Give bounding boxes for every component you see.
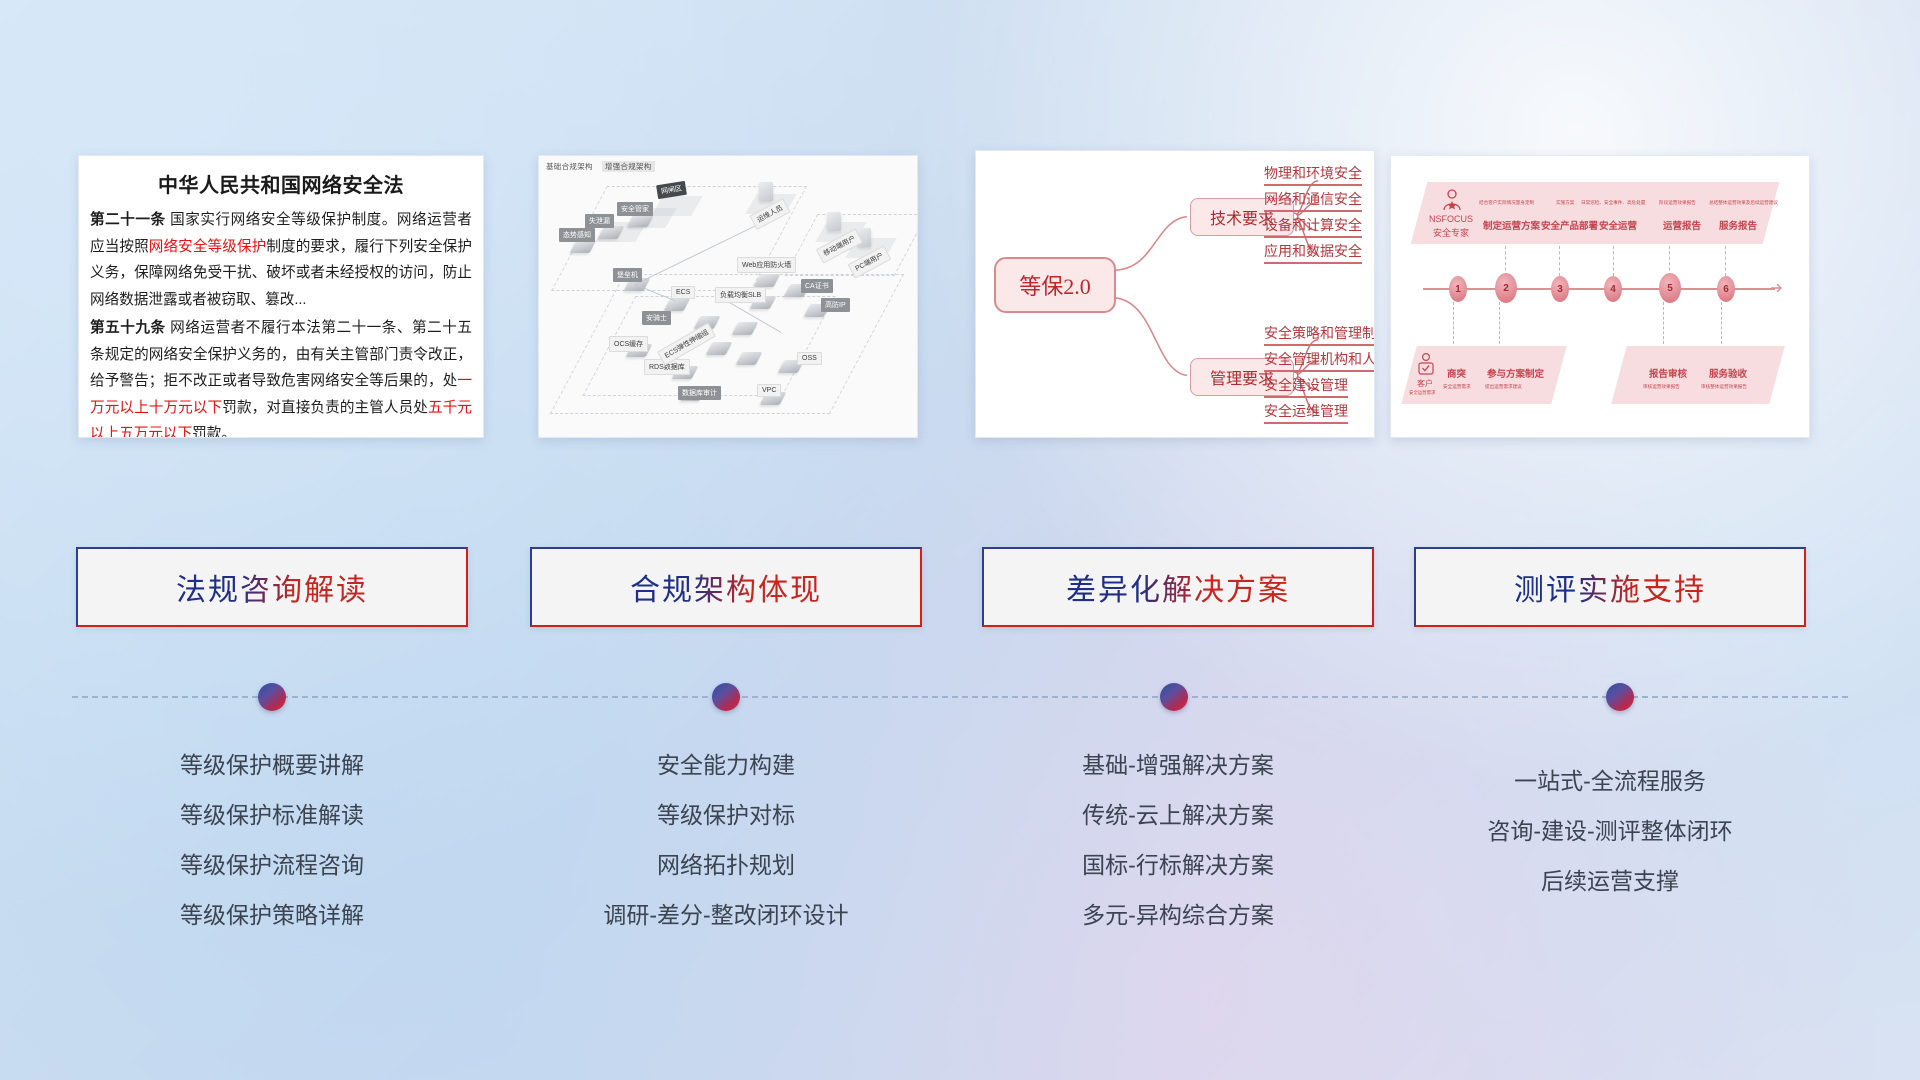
nsfocus-bottom-step-title: 参与方案制定 [1487,366,1544,380]
law-title: 中华人民共和国网络安全法 [79,169,483,198]
customer-icon [1415,352,1437,376]
arch-node-aegis: 安骑士 [642,311,671,325]
nsfocus-connector [1505,246,1506,276]
arch-node-bastion-host: 堡垒机 [613,268,642,282]
timeline-dot-2[interactable] [712,683,740,711]
list-item: 等级保护策略详解 [76,890,468,940]
architecture-tabs: 基础合规架构增强合规架构 [546,161,664,172]
arch-node-oss: OSS [797,352,822,365]
list-item: 基础-增强解决方案 [982,740,1374,790]
arch-node-leak-detection: 失泄漏 [585,214,614,228]
mindmap-root-node: 等保2.0 [994,257,1116,313]
nsfocus-step-title: 制定运营方案 [1483,218,1540,232]
column-evaluation-support: 一站式-全流程服务 咨询-建设-测评整体闭环 后续运营支撑 [1414,756,1806,906]
list-item: 等级保护流程咨询 [76,840,468,890]
nsfocus-bottom-step-sub: 审核整体运营效果报告 [1701,384,1747,390]
arch-node-vpc: VPC [757,384,781,397]
arch-node-security-steward: 安全管家 [617,202,653,216]
nsfocus-step-sub: 结合客户实际情况量身定制 [1479,200,1534,206]
mindmap-leaf: 安全管理机构和人员 [1264,349,1375,372]
tab-basic-architecture[interactable]: 基础合规架构 [546,162,593,171]
nsfocus-expert-line1: NSFOCUS [1429,214,1473,224]
nsfocus-customer-sub: 安全运营需求 [1409,390,1435,396]
mindmap: 等保2.0 技术要求 管理要求 物理和环境安全 网络和通信安全 设备和计算安全 … [976,151,1374,437]
timeline-dot-1[interactable] [258,683,286,711]
nsfocus-connector [1663,302,1664,344]
arch-node-ca-certificate: CA证书 [801,279,833,293]
nsfocus-expert-line2: 安全专家 [1433,226,1469,239]
mindmap-leaf: 网络和通信安全 [1264,189,1362,212]
nsfocus-step-dot: 6 [1717,276,1735,302]
arch-node-anti-ddos-ip: 高防IP [821,298,850,312]
nsfocus-bottom-right-band [1611,346,1785,404]
list-item: 国标-行标解决方案 [982,840,1374,890]
nsfocus-connector [1499,302,1500,344]
law-article-21-highlight: 网络安全等级保护 [149,239,267,255]
tab-enhanced-architecture[interactable]: 增强合规架构 [602,161,655,172]
nsfocus-step-title: 安全产品部署 [1541,218,1598,232]
title-box-differentiated-solution[interactable]: 差异化解决方案 [982,547,1374,627]
mindmap-leaf: 设备和计算安全 [1264,215,1362,238]
arch-node-ecs: ECS [671,286,695,299]
list-item: 等级保护概要讲解 [76,740,468,790]
arch-node-ocs-cache: OCS缓存 [609,336,648,352]
nsfocus-connector [1721,302,1722,344]
mindmap-leaf: 安全策略和管理制度 [1264,323,1375,346]
list-item: 网络拓扑规划 [530,840,922,890]
nsfocus-bottom-step-sub: 提出运营需求建议 [1485,384,1522,390]
list-item: 咨询-建设-测评整体闭环 [1414,806,1806,856]
nsfocus-step-title: 安全运营 [1599,218,1637,232]
card-dengbao-mindmap: 等保2.0 技术要求 管理要求 物理和环境安全 网络和通信安全 设备和计算安全 … [975,150,1375,438]
arch-node-slb: 负载均衡SLB [715,287,766,303]
architecture-diagram: 基础合规架构增强合规架构 [539,156,917,437]
security-expert-icon [1439,188,1465,214]
list-item: 一站式-全流程服务 [1414,756,1806,806]
title-label: 测评实施支持 [1514,565,1706,609]
law-article-59: 第五十九条 网络运营者不履行本法第二十一条、第二十五条规定的网络安全保护义务的，… [90,315,472,438]
mindmap-leaf: 安全运维管理 [1264,401,1348,424]
card-compliance-architecture: 基础合规架构增强合规架构 [538,155,918,438]
column-compliance-architecture: 安全能力构建 等级保护对标 网络拓扑规划 调研-差分-整改闭环设计 [530,740,922,940]
list-item: 等级保护对标 [530,790,922,840]
slide-canvas: 中华人民共和国网络安全法 第二十一条 国家实行网络安全等级保护制度。网络运营者应… [0,0,1920,1080]
law-body: 第二十一条 国家实行网络安全等级保护制度。网络运营者应当按照网络安全等级保护制度… [79,207,483,438]
nsfocus-step-sub: 阶段运营效果报告 [1659,200,1696,206]
nsfocus-step-dot: 5 [1659,273,1681,303]
list-item: 调研-差分-整改闭环设计 [530,890,922,940]
nsfocus-connector [1725,246,1726,276]
nsfocus-step-dot: 3 [1551,276,1569,302]
card-cybersecurity-law: 中华人民共和国网络安全法 第二十一条 国家实行网络安全等级保护制度。网络运营者应… [78,155,484,438]
nsfocus-bottom-step-sub: 审核运营效果报告 [1643,384,1680,390]
mindmap-leaf: 应用和数据安全 [1264,241,1362,264]
nsfocus-step-dot: 2 [1495,273,1517,303]
nsfocus-step-sub: 实施方案 [1556,200,1574,206]
list-item: 安全能力构建 [530,740,922,790]
nsfocus-step-dot: 1 [1449,276,1467,302]
timeline-axis [72,696,1848,698]
title-box-compliance-architecture[interactable]: 合规架构体现 [530,547,922,627]
nsfocus-bottom-step-title: 报告审核 [1649,366,1687,380]
nsfocus-bottom-step-title: 商突 [1447,366,1466,380]
title-label: 法规咨询解读 [176,565,368,609]
law-article-59-text-b: 罚款，对直接负责的主管人员处 [222,400,428,416]
law-article-59-text-c: 罚款。 [192,426,236,438]
arch-node-database-audit: 数据库审计 [678,386,721,400]
iso-server [827,212,841,231]
nsfocus-step-sub: 日常巡检、安全事件、高危处置 [1581,200,1645,206]
title-box-regulation-consulting[interactable]: 法规咨询解读 [76,547,468,627]
card-nsfocus-service-timeline: NSFOCUS 安全专家 结合客户实际情况量身定制 制定运营方案 实施方案 安全… [1390,155,1810,438]
iso-server [759,182,773,201]
law-article-21-label: 第二十一条 [90,212,166,228]
arch-node-waf: Web应用防火墙 [737,257,796,273]
title-label: 差异化解决方案 [1066,565,1290,609]
nsfocus-timeline: NSFOCUS 安全专家 结合客户实际情况量身定制 制定运营方案 实施方案 安全… [1391,156,1809,437]
nsfocus-connector [1613,246,1614,276]
list-item: 多元-异构综合方案 [982,890,1374,940]
law-article-59-label: 第五十九条 [90,320,166,336]
nsfocus-connector [1453,302,1454,344]
title-box-evaluation-support[interactable]: 测评实施支持 [1414,547,1806,627]
timeline-dot-3[interactable] [1160,683,1188,711]
nsfocus-connector [1559,246,1560,276]
nsfocus-connector [1669,246,1670,276]
list-item: 后续运营支撑 [1414,856,1806,906]
list-item: 传统-云上解决方案 [982,790,1374,840]
nsfocus-axis-arrow [1771,282,1783,294]
law-article-21: 第二十一条 国家实行网络安全等级保护制度。网络运营者应当按照网络安全等级保护制度… [90,207,472,313]
column-differentiated-solution: 基础-增强解决方案 传统-云上解决方案 国标-行标解决方案 多元-异构综合方案 [982,740,1374,940]
nsfocus-step-title: 运营报告 [1663,218,1701,232]
nsfocus-step-dot: 4 [1604,276,1622,302]
arch-node-situational-awareness: 态势感知 [559,228,595,242]
mindmap-leaf: 安全建设管理 [1264,375,1348,398]
nsfocus-bottom-step-title: 服务验收 [1709,366,1747,380]
timeline-dot-4[interactable] [1606,683,1634,711]
mindmap-leaf: 物理和环境安全 [1264,163,1362,186]
title-label: 合规架构体现 [630,565,822,609]
nsfocus-step-title: 服务报告 [1719,218,1757,232]
nsfocus-bottom-step-sub: 安全运营需求 [1443,384,1471,390]
nsfocus-step-sub: 总结整体运营效果及后续运营建议 [1709,200,1778,206]
nsfocus-customer-label: 客户 [1417,378,1433,389]
list-item: 等级保护标准解读 [76,790,468,840]
column-regulation-consulting: 等级保护概要讲解 等级保护标准解读 等级保护流程咨询 等级保护策略详解 [76,740,468,940]
